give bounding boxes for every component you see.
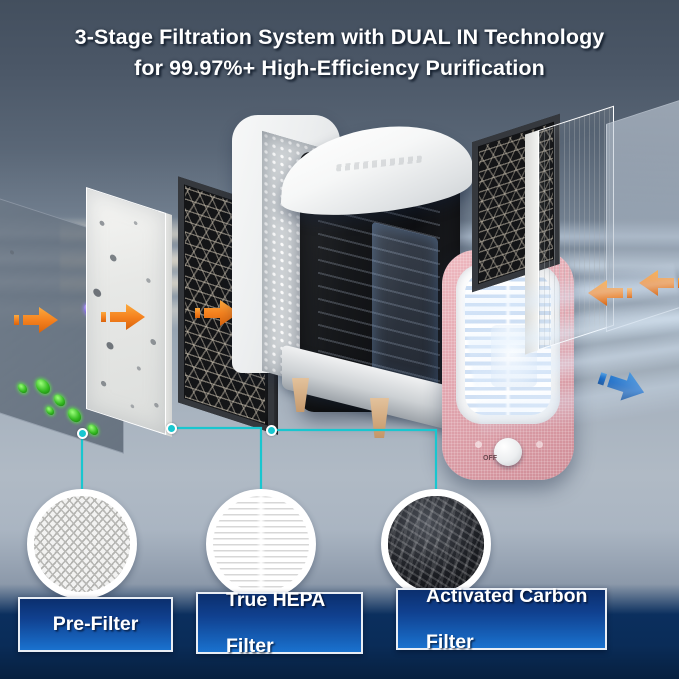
knob-indicator-dot — [536, 441, 543, 448]
connector-dot-carbon-filter — [266, 425, 277, 436]
label-pre-filter: Pre-Filter — [18, 597, 173, 652]
control-knob[interactable] — [494, 438, 522, 466]
clean-air-arrow — [596, 368, 646, 404]
label-carbon-filter-text: Activated CarbonFilter — [398, 585, 587, 654]
connector-dot-hepa-filter — [166, 423, 177, 434]
title-line-2: for 99.97%+ High-Efficiency Purification — [0, 53, 679, 84]
dirty-air-arrow — [586, 278, 632, 308]
knob-off-marker: OFF — [483, 454, 493, 464]
connector-dot-pre-filter — [77, 428, 88, 439]
dirty-air-arrow — [101, 302, 147, 332]
swatch-hepa-filter — [206, 489, 316, 599]
knob-indicator-dot — [475, 441, 482, 448]
infographic-canvas: 3-Stage Filtration System with DUAL IN T… — [0, 0, 679, 679]
fan-assembly — [372, 222, 438, 388]
label-hepa-filter: True HEPAFilter — [196, 592, 363, 654]
label-carbon-filter: Activated CarbonFilter — [396, 588, 607, 650]
swatch-carbon-filter — [381, 489, 491, 599]
wooden-leg — [370, 398, 389, 438]
page-title: 3-Stage Filtration System with DUAL IN T… — [0, 22, 679, 84]
hepa-panel-right — [538, 106, 614, 351]
label-hepa-filter-text: True HEPAFilter — [198, 589, 325, 658]
exploded-product-illustration: OFF — [0, 100, 679, 480]
swatch-pre-filter — [27, 489, 137, 599]
title-line-1: 3-Stage Filtration System with DUAL IN T… — [0, 22, 679, 53]
label-pre-filter-text: Pre-Filter — [20, 613, 171, 636]
dirty-air-arrow — [14, 305, 60, 335]
dirty-air-arrow — [637, 268, 679, 298]
